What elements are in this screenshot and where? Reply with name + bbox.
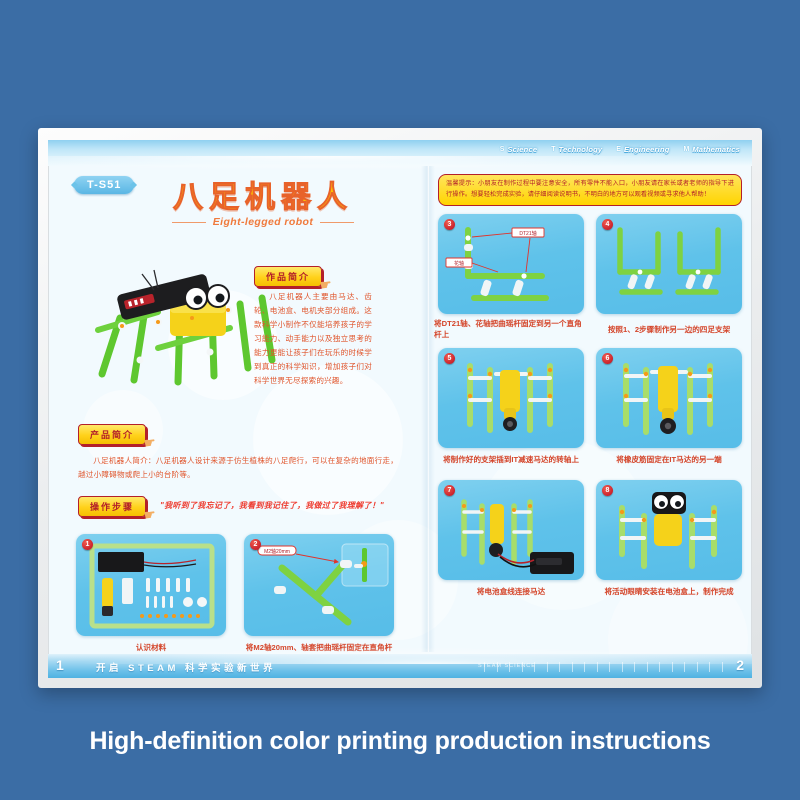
product-intro-text: 八足机器人简介：八足机器人设计来源于仿生植株的八足爬行，可以在复杂的地面行走，越… <box>78 454 398 482</box>
step-card-8[interactable]: 8 <box>596 480 742 580</box>
steam-tag-label: Mathematics <box>692 145 740 154</box>
step-card-6[interactable]: 6 <box>596 348 742 448</box>
steam-tag-label: Engineering <box>624 145 670 154</box>
step-1-photo <box>76 534 226 636</box>
footer-band: 1 开启 STEAM 科学实验新世界 STEAM SCIENCE 2 <box>48 654 752 678</box>
step-8-photo <box>596 480 742 580</box>
steps-header-badge: 操作步骤 ☛ <box>78 496 146 517</box>
product-intro-badge-label: 产品简介 <box>90 430 134 440</box>
step-card-3[interactable]: 3 DT21轴 <box>438 214 584 314</box>
marketing-caption: High-definition color printing productio… <box>0 727 800 756</box>
step-number-badge: 5 <box>444 353 455 364</box>
page-subtitle-text: Eight-legged robot <box>213 216 314 228</box>
step-number-badge: 4 <box>602 219 613 230</box>
step-number-badge: 3 <box>444 219 455 230</box>
page-subtitle: Eight-legged robot <box>138 216 388 228</box>
step-card-5[interactable]: 5 <box>438 348 584 448</box>
step-card-7[interactable]: 7 <box>438 480 584 580</box>
steam-tag-list: S Science T Technology E Engineering M M… <box>500 145 740 154</box>
steps-header-badge-label: 操作步骤 <box>90 502 134 512</box>
step-3-photo: DT21轴 花轴 <box>438 214 584 314</box>
step-caption-5: 将制作好的支架插到IT减速马达的转轴上 <box>434 454 588 465</box>
work-intro-badge-label: 作品简介 <box>266 272 310 282</box>
footer-slogan: 开启 STEAM 科学实验新世界 <box>96 660 276 674</box>
left-page: T-S51 八足机器人 Eight-legged robot <box>48 166 428 678</box>
steps-quote: "我听到了我忘记了，我看到我记住了，我做过了我理解了！" <box>160 500 410 511</box>
science-icon: S <box>500 146 505 153</box>
page-number-right: 2 <box>736 657 744 673</box>
footer-ruler-decoration <box>484 662 734 672</box>
pointing-hand-icon: ☛ <box>143 434 159 452</box>
steam-tag-label: Science <box>507 145 537 154</box>
step-caption-8: 将活动眼睛安装在电池盒上，制作完成 <box>592 586 746 597</box>
title-rule-right <box>320 222 354 223</box>
step-caption-4: 按照1、2步骤制作另一边的四足支架 <box>592 324 746 335</box>
product-intro-badge: 产品简介 ☛ <box>78 424 146 445</box>
step-5-photo <box>438 348 584 448</box>
step-3-annotation-label-1: DT21轴 <box>519 230 536 237</box>
step-3-annotation-label-2: 花轴 <box>454 260 464 267</box>
step-number-badge: 1 <box>82 539 93 550</box>
steam-tag-engineering: E Engineering <box>616 145 669 154</box>
title-block: 八足机器人 Eight-legged robot <box>138 182 388 228</box>
title-rule-left <box>172 222 206 223</box>
work-intro-badge: 作品简介 ☛ <box>254 266 322 287</box>
step-caption-3: 将DT21轴、花轴把曲瑶杆固定到另一个直角杆上 <box>434 318 588 340</box>
steam-tag-technology: T Technology <box>551 145 602 154</box>
mathematics-icon: M <box>684 146 690 153</box>
step-card-4[interactable]: 4 <box>596 214 742 314</box>
engineering-icon: E <box>616 146 621 153</box>
steam-header-band: S Science T Technology E Engineering M M… <box>48 140 752 166</box>
step-caption-7: 将电池盒线连接马达 <box>434 586 588 597</box>
work-intro-text: 八足机器人主要由马达、齿轮、电池盒、电机夹部分组成。这款科学小制作不仅能培养孩子… <box>254 290 372 388</box>
product-code-badge: T-S51 <box>74 176 134 194</box>
step-card-1[interactable]: 1 <box>76 534 226 636</box>
steam-tag-science: S Science <box>500 145 537 154</box>
step-4-photo <box>596 214 742 314</box>
safety-tip-box: 温馨提示：小朋友在制作过程中要注意安全，所有零件不能入口，小朋友请在家长或者老师… <box>438 174 742 206</box>
step-number-badge: 7 <box>444 485 455 496</box>
step-caption-6: 将橡皮筋固定在IT马达的另一端 <box>592 454 746 465</box>
step-card-2[interactable]: 2 M2 <box>244 534 394 636</box>
step-2-photo: M2轴20mm <box>244 534 394 636</box>
step-number-badge: 8 <box>602 485 613 496</box>
steam-tag-label: Technology <box>558 145 602 154</box>
booklet-spread: S Science T Technology E Engineering M M… <box>48 140 752 678</box>
technology-icon: T <box>551 146 555 153</box>
page-title: 八足机器人 <box>138 182 388 214</box>
pointing-hand-icon: ☛ <box>143 506 159 524</box>
page-number-left: 1 <box>56 657 64 673</box>
steam-tag-mathematics: M Mathematics <box>684 145 740 154</box>
step-2-annotation-label: M2轴20mm <box>264 548 290 555</box>
instruction-booklet-photo: S Science T Technology E Engineering M M… <box>38 128 762 688</box>
right-page: 温馨提示：小朋友在制作过程中要注意安全，所有零件不能入口，小朋友请在家长或者老师… <box>428 166 752 678</box>
step-number-badge: 2 <box>250 539 261 550</box>
step-number-badge: 6 <box>602 353 613 364</box>
step-7-photo <box>438 480 584 580</box>
step-6-photo <box>596 348 742 448</box>
